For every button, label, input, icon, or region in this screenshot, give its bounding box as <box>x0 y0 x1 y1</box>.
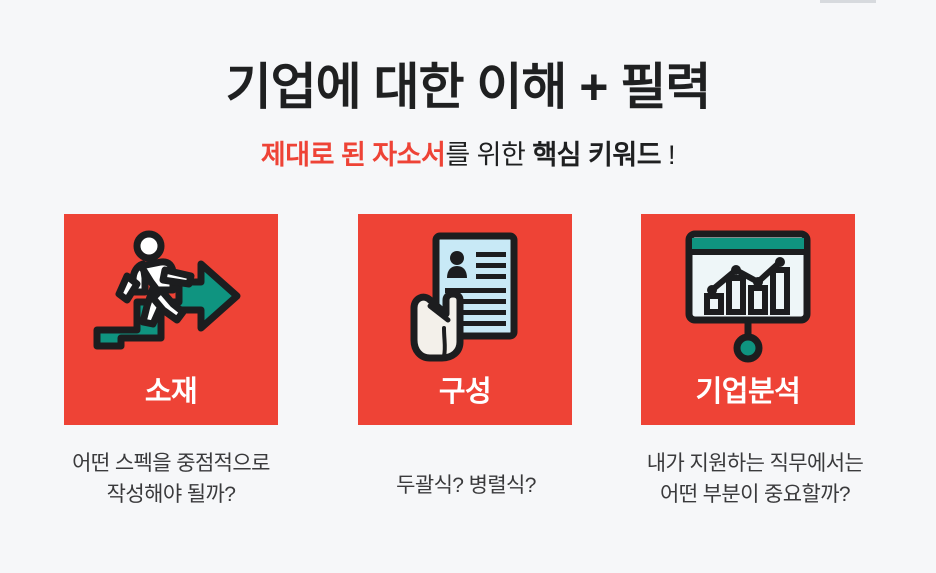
caption-guseong: 두괄식? 병렬식? <box>340 470 592 501</box>
subtitle-middle: 를 위한 <box>445 140 532 170</box>
caption-sojae-line-2: 작성해야 될까? <box>18 479 324 510</box>
card-sojae[interactable]: 소재 <box>64 214 278 425</box>
card-gieopbunseok-label: 기업분석 <box>641 374 855 410</box>
card-row: 소재 <box>0 214 936 426</box>
top-scrollbar-artifact <box>820 0 876 3</box>
card-guseong-art <box>358 228 572 368</box>
card-gieopbunseok-art <box>641 228 855 368</box>
card-guseong-label: 구성 <box>358 374 572 410</box>
hand-holding-resume-icon <box>400 230 530 366</box>
subtitle-highlight: 제대로 된 자소서 <box>261 140 445 170</box>
caption-gieopbunseok-line-1: 내가 지원하는 직무에서는 <box>592 448 918 479</box>
caption-row: 어떤 스펙을 중점적으로 작성해야 될까? 두괄식? 병렬식? 내가 지원하는 … <box>0 448 936 538</box>
card-sojae-label: 소재 <box>64 374 278 410</box>
presentation-board-chart-icon <box>681 230 815 366</box>
subtitle-strong: 핵심 키워드 <box>532 140 661 170</box>
card-sojae-art <box>64 228 278 368</box>
caption-sojae-line-1: 어떤 스펙을 중점적으로 <box>18 448 324 479</box>
card-gieopbunseok[interactable]: 기업분석 <box>641 214 855 425</box>
person-climbing-stairs-arrow-icon <box>91 230 251 366</box>
subtitle-end: ! <box>661 140 675 170</box>
caption-gieopbunseok: 내가 지원하는 직무에서는 어떤 부분이 중요할까? <box>592 448 918 510</box>
page-title: 기업에 대한 이해 + 필력 <box>0 58 936 116</box>
page-subtitle: 제대로 된 자소서를 위한 핵심 키워드 ! <box>0 138 936 172</box>
caption-sojae: 어떤 스펙을 중점적으로 작성해야 될까? <box>18 448 324 510</box>
caption-gieopbunseok-line-2: 어떤 부분이 중요할까? <box>592 479 918 510</box>
card-guseong[interactable]: 구성 <box>358 214 572 425</box>
infographic-page: 기업에 대한 이해 + 필력 제대로 된 자소서를 위한 핵심 키워드 ! <box>0 0 936 573</box>
caption-guseong-line-1: 두괄식? 병렬식? <box>340 470 592 501</box>
